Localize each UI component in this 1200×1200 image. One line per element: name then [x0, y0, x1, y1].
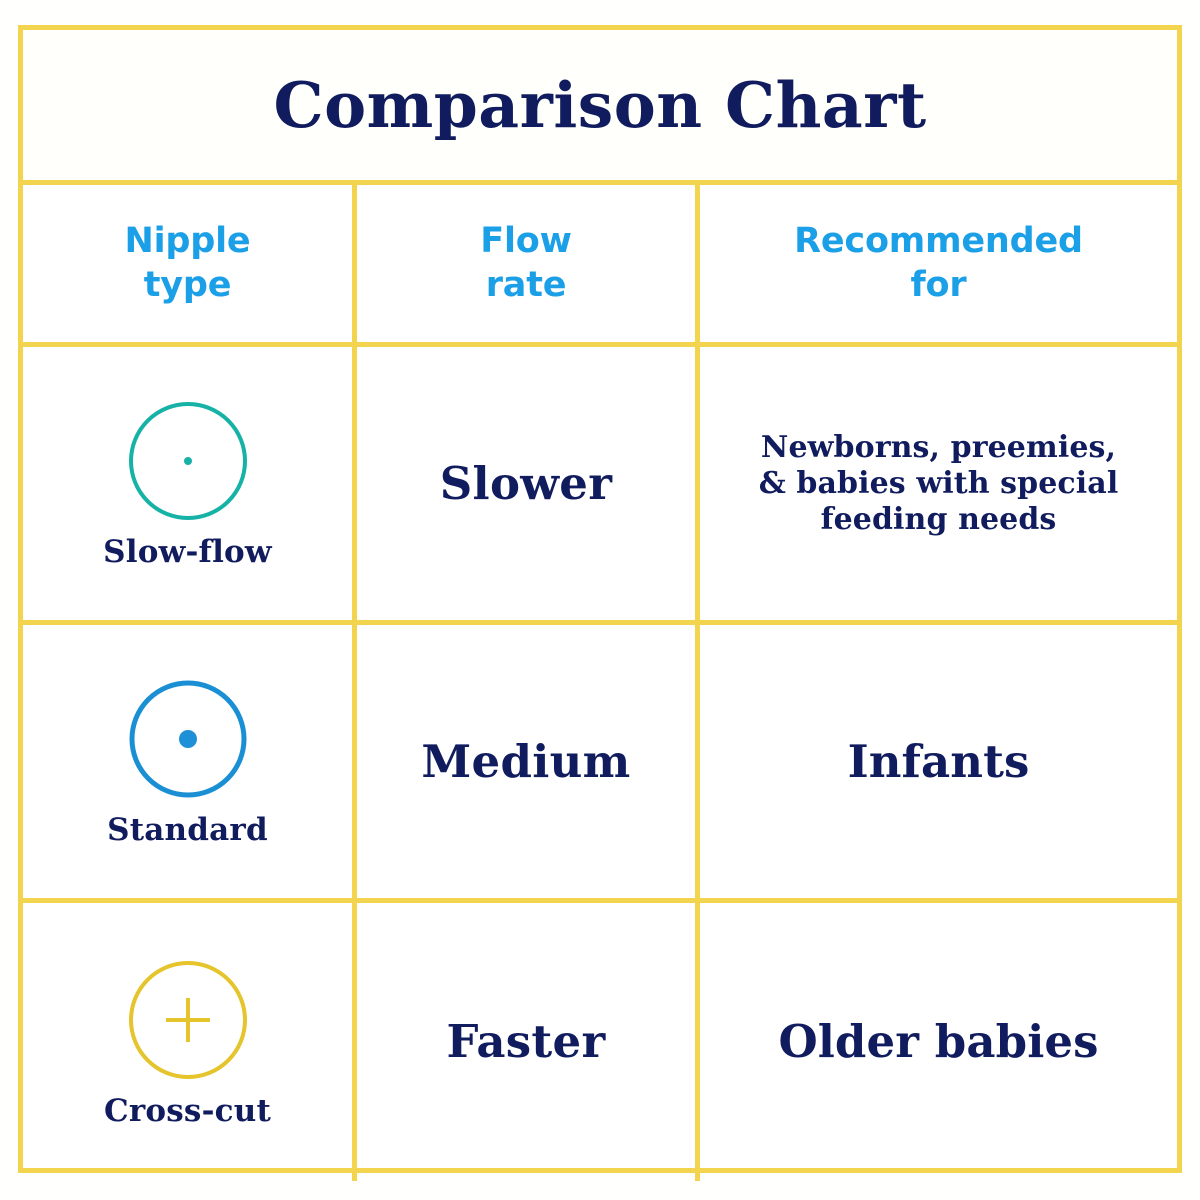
- recommended-line-1: Older babies: [778, 1015, 1098, 1069]
- recommended-value-standard: Infants: [848, 735, 1030, 789]
- cell-flow-rate-slow-flow: Slower: [357, 347, 700, 620]
- table-row: Slow-flow Slower Newborns, preemies, & b…: [23, 347, 1177, 625]
- standard-nipple-icon: [126, 677, 250, 801]
- header-line-1: Recommended: [794, 220, 1083, 264]
- cell-recommended-for-standard: Infants: [700, 625, 1177, 898]
- header-line-2: for: [794, 264, 1083, 308]
- comparison-chart-root: Comparison Chart Nipple type Flow rate R…: [0, 0, 1200, 1200]
- header-line-1: Flow: [480, 220, 572, 264]
- nipple-label-standard: Standard: [107, 815, 268, 846]
- cell-nipple-type-slow-flow: Slow-flow: [23, 347, 357, 620]
- cell-flow-rate-standard: Medium: [357, 625, 700, 898]
- nipple-label-slow-flow: Slow-flow: [103, 537, 272, 568]
- header-line-2: rate: [480, 264, 572, 308]
- header-label-recommended-for: Recommended for: [794, 220, 1083, 308]
- recommended-value-cross-cut: Older babies: [778, 1015, 1098, 1069]
- comparison-table: Comparison Chart Nipple type Flow rate R…: [18, 25, 1182, 1173]
- title-row: Comparison Chart: [23, 30, 1177, 185]
- header-cell-recommended-for: Recommended for: [700, 185, 1177, 342]
- header-cell-flow-rate: Flow rate: [357, 185, 700, 342]
- recommended-line-3: feeding needs: [759, 502, 1119, 538]
- header-line-2: type: [125, 264, 251, 308]
- recommended-line-1: Newborns, preemies,: [759, 430, 1119, 466]
- header-label-flow-rate: Flow rate: [480, 220, 572, 308]
- recommended-line-1: Infants: [848, 735, 1030, 789]
- table-header-row: Nipple type Flow rate Recommended for: [23, 185, 1177, 347]
- cross-cut-nipple-icon: [126, 958, 250, 1082]
- page-title: Comparison Chart: [273, 74, 926, 137]
- recommended-line-2: & babies with special: [759, 466, 1119, 502]
- table-row: Standard Medium Infants: [23, 625, 1177, 903]
- cell-flow-rate-cross-cut: Faster: [357, 903, 700, 1181]
- cell-nipple-type-cross-cut: Cross-cut: [23, 903, 357, 1181]
- nipple-label-cross-cut: Cross-cut: [104, 1096, 271, 1127]
- slow-flow-nipple-icon: [126, 399, 250, 523]
- header-line-1: Nipple: [125, 220, 251, 264]
- cell-recommended-for-slow-flow: Newborns, preemies, & babies with specia…: [700, 347, 1177, 620]
- cell-recommended-for-cross-cut: Older babies: [700, 903, 1177, 1181]
- table-row: Cross-cut Faster Older babies: [23, 903, 1177, 1181]
- flow-rate-value-slow-flow: Slower: [440, 460, 612, 507]
- recommended-value-slow-flow: Newborns, preemies, & babies with specia…: [759, 430, 1119, 538]
- cell-nipple-type-standard: Standard: [23, 625, 357, 898]
- flow-rate-value-standard: Medium: [421, 738, 630, 785]
- header-label-nipple-type: Nipple type: [125, 220, 251, 308]
- header-cell-nipple-type: Nipple type: [23, 185, 357, 342]
- flow-rate-value-cross-cut: Faster: [447, 1018, 606, 1065]
